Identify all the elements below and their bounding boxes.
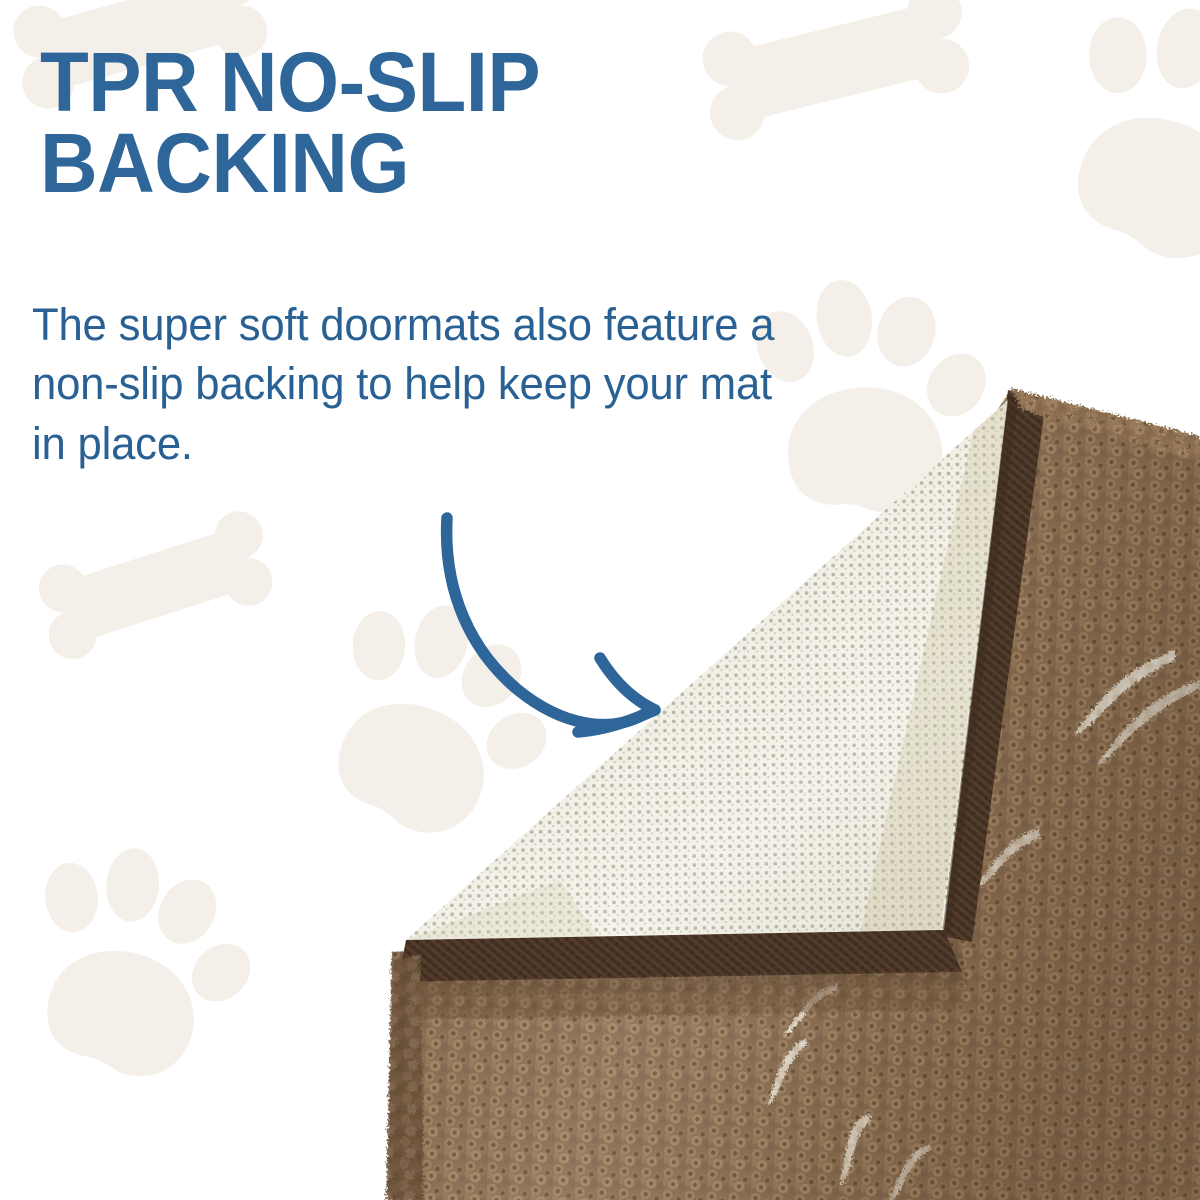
curved-pointer-arrow [0,0,1200,1200]
copy-layer: TPR NO-SLIP BACKING The super soft doorm… [0,0,1200,1200]
marketing-image-canvas: TPR NO-SLIP BACKING The super soft doorm… [0,0,1200,1200]
